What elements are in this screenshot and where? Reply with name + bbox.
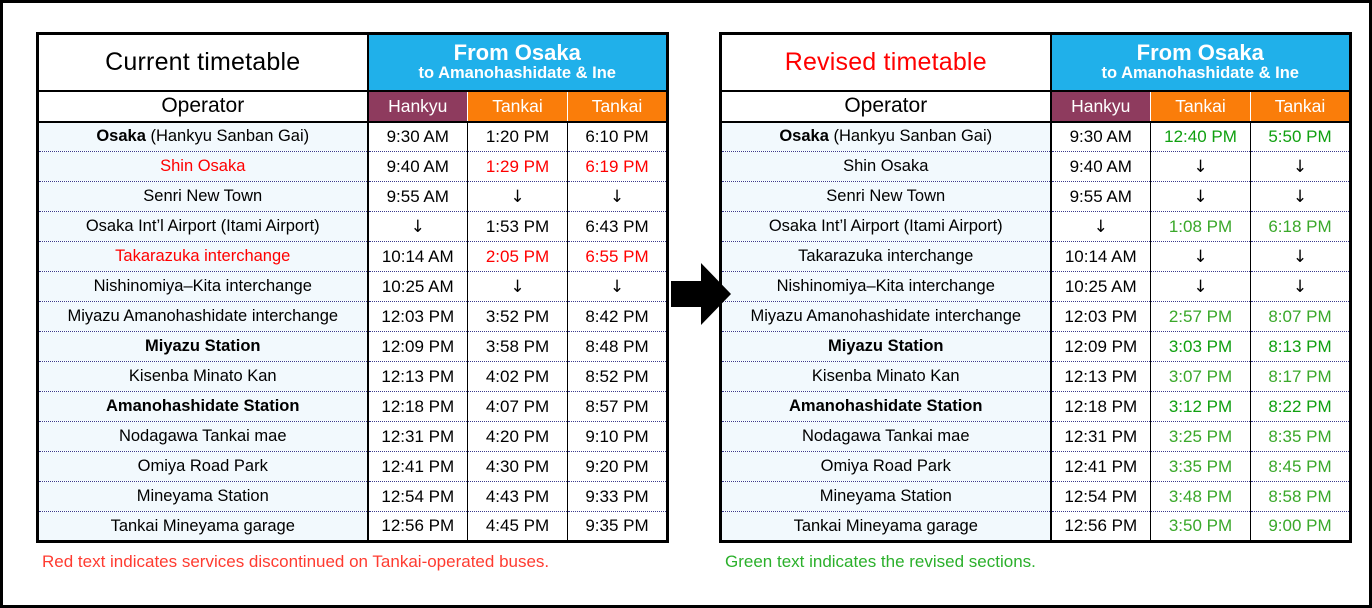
station-name: Osaka Int’l Airport (Itami Airport): [769, 217, 1003, 235]
departure-time-cell: 9:40 AM: [368, 152, 468, 182]
destination-line-2: to Amanohashidate & Ine: [1052, 65, 1350, 83]
revised-timetable-table: Revised timetableFrom Osakato Amanohashi…: [719, 32, 1352, 543]
table-row: Osaka Int’l Airport (Itami Airport)↓1:08…: [721, 212, 1351, 242]
table-row: Miyazu Amanohashidate interchange12:03 P…: [721, 302, 1351, 332]
station-name-cell: Kisenba Minato Kan: [38, 362, 368, 392]
station-name-cell: Miyazu Amanohashidate interchange: [721, 302, 1051, 332]
pass-through-arrow-icon: ↓: [368, 212, 468, 242]
down-arrow-icon: ↓: [610, 277, 624, 297]
destination-line-1: From Osaka: [369, 41, 667, 65]
departure-time-cell: 9:35 PM: [568, 512, 668, 542]
departure-time-cell: 1:53 PM: [468, 212, 568, 242]
station-name: Omiya Road Park: [821, 457, 951, 475]
station-name-cell: Nishinomiya–Kita interchange: [721, 272, 1051, 302]
station-name-cell: Senri New Town: [721, 182, 1051, 212]
departure-time-cell: 8:58 PM: [1251, 482, 1351, 512]
station-name-cell: Nodagawa Tankai mae: [721, 422, 1051, 452]
table-body: Revised timetableFrom Osakato Amanohashi…: [721, 34, 1351, 542]
down-arrow-icon: ↓: [1193, 187, 1207, 207]
departure-time-cell: 10:25 AM: [368, 272, 468, 302]
operator-label: Operator: [38, 91, 368, 122]
departure-time-cell: 8:57 PM: [568, 392, 668, 422]
departure-time-cell: 2:57 PM: [1151, 302, 1251, 332]
operator-column-header-3: Tankai: [568, 91, 668, 122]
table-row: Nodagawa Tankai mae12:31 PM3:25 PM8:35 P…: [721, 422, 1351, 452]
down-arrow-icon: ↓: [411, 217, 425, 237]
table-row: Shin Osaka9:40 AM1:29 PM6:19 PM: [38, 152, 668, 182]
departure-time-cell: 10:25 AM: [1051, 272, 1151, 302]
departure-time-cell: 12:31 PM: [1051, 422, 1151, 452]
pass-through-arrow-icon: ↓: [568, 272, 668, 302]
departure-time-cell: 8:13 PM: [1251, 332, 1351, 362]
operator-column-header-2: Tankai: [1151, 91, 1251, 122]
table-row: Osaka Int’l Airport (Itami Airport)↓1:53…: [38, 212, 668, 242]
departure-time-cell: 12:54 PM: [368, 482, 468, 512]
table-title: Revised timetable: [721, 34, 1051, 91]
departure-time-cell: 9:30 AM: [368, 122, 468, 152]
destination-line-2: to Amanohashidate & Ine: [369, 65, 667, 83]
station-name: Osaka Int’l Airport (Itami Airport): [86, 217, 320, 235]
down-arrow-icon: ↓: [510, 187, 524, 207]
legend-note: Red text indicates services discontinued…: [36, 552, 672, 572]
table-row: Amanohashidate Station12:18 PM3:12 PM8:2…: [721, 392, 1351, 422]
operator-row: OperatorHankyuTankaiTankai: [38, 91, 668, 122]
station-name: Mineyama Station: [820, 487, 952, 505]
pass-through-arrow-icon: ↓: [1051, 212, 1151, 242]
table-row: Omiya Road Park12:41 PM3:35 PM8:45 PM: [721, 452, 1351, 482]
station-name: Shin Osaka: [843, 157, 928, 175]
station-name-cell: Takarazuka interchange: [721, 242, 1051, 272]
destination-header: From Osakato Amanohashidate & Ine: [1051, 34, 1351, 91]
departure-time-cell: 9:20 PM: [568, 452, 668, 482]
departure-time-cell: 6:10 PM: [568, 122, 668, 152]
table-row: Mineyama Station12:54 PM4:43 PM9:33 PM: [38, 482, 668, 512]
departure-time-cell: 8:35 PM: [1251, 422, 1351, 452]
departure-time-cell: 9:55 AM: [1051, 182, 1151, 212]
station-name-cell: Shin Osaka: [38, 152, 368, 182]
departure-time-cell: 8:42 PM: [568, 302, 668, 332]
station-name-cell: Nishinomiya–Kita interchange: [38, 272, 368, 302]
station-name: Osaka: [96, 127, 146, 145]
destination-line-1: From Osaka: [1052, 41, 1350, 65]
station-name-cell: Osaka Int’l Airport (Itami Airport): [38, 212, 368, 242]
departure-time-cell: 1:08 PM: [1151, 212, 1251, 242]
departure-time-cell: 3:25 PM: [1151, 422, 1251, 452]
departure-time-cell: 3:48 PM: [1151, 482, 1251, 512]
station-name: Mineyama Station: [137, 487, 269, 505]
departure-time-cell: 1:29 PM: [468, 152, 568, 182]
departure-time-cell: 12:56 PM: [368, 512, 468, 542]
operator-row: OperatorHankyuTankaiTankai: [721, 91, 1351, 122]
table-row: Nodagawa Tankai mae12:31 PM4:20 PM9:10 P…: [38, 422, 668, 452]
departure-time-cell: 10:14 AM: [368, 242, 468, 272]
table-row: Kisenba Minato Kan12:13 PM3:07 PM8:17 PM: [721, 362, 1351, 392]
table-row: Senri New Town9:55 AM↓↓: [721, 182, 1351, 212]
departure-time-cell: 12:03 PM: [1051, 302, 1151, 332]
station-name-cell: Omiya Road Park: [721, 452, 1051, 482]
station-name-note: (Hankyu Sanban Gai): [146, 127, 309, 145]
station-name: Nodagawa Tankai mae: [802, 427, 970, 445]
station-name: Miyazu Amanohashidate interchange: [67, 307, 338, 325]
departure-time-cell: 8:45 PM: [1251, 452, 1351, 482]
station-name: Nishinomiya–Kita interchange: [777, 277, 995, 295]
station-name: Nodagawa Tankai mae: [119, 427, 287, 445]
departure-time-cell: 3:35 PM: [1151, 452, 1251, 482]
departure-time-cell: 9:55 AM: [368, 182, 468, 212]
pass-through-arrow-icon: ↓: [568, 182, 668, 212]
departure-time-cell: 8:52 PM: [568, 362, 668, 392]
departure-time-cell: 8:17 PM: [1251, 362, 1351, 392]
departure-time-cell: 9:10 PM: [568, 422, 668, 452]
station-name: Kisenba Minato Kan: [129, 367, 277, 385]
departure-time-cell: 12:18 PM: [1051, 392, 1151, 422]
station-name: Nishinomiya–Kita interchange: [94, 277, 312, 295]
table-row: Mineyama Station12:54 PM3:48 PM8:58 PM: [721, 482, 1351, 512]
departure-time-cell: 4:07 PM: [468, 392, 568, 422]
pass-through-arrow-icon: ↓: [1251, 242, 1351, 272]
station-name: Takarazuka interchange: [798, 247, 973, 265]
station-name-note: (Hankyu Sanban Gai): [829, 127, 992, 145]
operator-column-header-2: Tankai: [468, 91, 568, 122]
operator-label: Operator: [721, 91, 1051, 122]
station-name: Amanohashidate Station: [106, 397, 299, 415]
table-row: Osaka (Hankyu Sanban Gai)9:30 AM1:20 PM6…: [38, 122, 668, 152]
legend-note: Green text indicates the revised section…: [719, 552, 1355, 572]
departure-time-cell: 12:13 PM: [368, 362, 468, 392]
station-name-cell: Tankai Mineyama garage: [38, 512, 368, 542]
station-name: Senri New Town: [143, 187, 262, 205]
station-name: Miyazu Station: [145, 337, 261, 355]
station-name-cell: Mineyama Station: [38, 482, 368, 512]
down-arrow-icon: ↓: [610, 187, 624, 207]
departure-time-cell: 4:45 PM: [468, 512, 568, 542]
revised-timetable-panel: Revised timetableFrom Osakato Amanohashi…: [719, 3, 1355, 572]
station-name-cell: Senri New Town: [38, 182, 368, 212]
table-row: Nishinomiya–Kita interchange10:25 AM↓↓: [38, 272, 668, 302]
table-row: Tankai Mineyama garage12:56 PM3:50 PM9:0…: [721, 512, 1351, 542]
operator-column-header-1: Hankyu: [1051, 91, 1151, 122]
station-name-cell: Osaka (Hankyu Sanban Gai): [38, 122, 368, 152]
title-row: Revised timetableFrom Osakato Amanohashi…: [721, 34, 1351, 91]
down-arrow-icon: ↓: [1293, 157, 1307, 177]
departure-time-cell: 2:05 PM: [468, 242, 568, 272]
down-arrow-icon: ↓: [1293, 187, 1307, 207]
table-row: Kisenba Minato Kan12:13 PM4:02 PM8:52 PM: [38, 362, 668, 392]
departure-time-cell: 9:30 AM: [1051, 122, 1151, 152]
departure-time-cell: 3:12 PM: [1151, 392, 1251, 422]
pass-through-arrow-icon: ↓: [1151, 242, 1251, 272]
station-name-cell: Shin Osaka: [721, 152, 1051, 182]
departure-time-cell: 12:09 PM: [368, 332, 468, 362]
pass-through-arrow-icon: ↓: [1251, 272, 1351, 302]
down-arrow-icon: ↓: [510, 277, 524, 297]
departure-time-cell: 4:30 PM: [468, 452, 568, 482]
departure-time-cell: 12:18 PM: [368, 392, 468, 422]
station-name-cell: Nodagawa Tankai mae: [38, 422, 368, 452]
down-arrow-icon: ↓: [1094, 217, 1108, 237]
departure-time-cell: 12:56 PM: [1051, 512, 1151, 542]
departure-time-cell: 8:22 PM: [1251, 392, 1351, 422]
pass-through-arrow-icon: ↓: [468, 272, 568, 302]
departure-time-cell: 12:41 PM: [368, 452, 468, 482]
pass-through-arrow-icon: ↓: [468, 182, 568, 212]
station-name: Omiya Road Park: [138, 457, 268, 475]
station-name: Miyazu Amanohashidate interchange: [750, 307, 1021, 325]
down-arrow-icon: ↓: [1193, 247, 1207, 267]
departure-time-cell: 12:54 PM: [1051, 482, 1151, 512]
table-row: Shin Osaka9:40 AM↓↓: [721, 152, 1351, 182]
departure-time-cell: 8:48 PM: [568, 332, 668, 362]
down-arrow-icon: ↓: [1293, 277, 1307, 297]
table-row: Nishinomiya–Kita interchange10:25 AM↓↓: [721, 272, 1351, 302]
departure-time-cell: 12:09 PM: [1051, 332, 1151, 362]
station-name: Tankai Mineyama garage: [111, 517, 295, 535]
current-timetable-table: Current timetableFrom Osakato Amanohashi…: [36, 32, 669, 543]
station-name: Senri New Town: [826, 187, 945, 205]
down-arrow-icon: ↓: [1193, 277, 1207, 297]
departure-time-cell: 3:52 PM: [468, 302, 568, 332]
station-name-cell: Miyazu Station: [38, 332, 368, 362]
departure-time-cell: 6:55 PM: [568, 242, 668, 272]
departure-time-cell: 4:43 PM: [468, 482, 568, 512]
departure-time-cell: 3:03 PM: [1151, 332, 1251, 362]
departure-time-cell: 5:50 PM: [1251, 122, 1351, 152]
departure-time-cell: 12:31 PM: [368, 422, 468, 452]
departure-time-cell: 8:07 PM: [1251, 302, 1351, 332]
departure-time-cell: 4:20 PM: [468, 422, 568, 452]
current-timetable-panel: Current timetableFrom Osakato Amanohashi…: [36, 3, 672, 572]
departure-time-cell: 6:43 PM: [568, 212, 668, 242]
down-arrow-icon: ↓: [1193, 157, 1207, 177]
station-name-cell: Takarazuka interchange: [38, 242, 368, 272]
right-arrow-icon: [671, 263, 731, 325]
departure-time-cell: 12:03 PM: [368, 302, 468, 332]
table-title: Current timetable: [38, 34, 368, 91]
departure-time-cell: 9:40 AM: [1051, 152, 1151, 182]
table-row: Amanohashidate Station12:18 PM4:07 PM8:5…: [38, 392, 668, 422]
station-name-cell: Miyazu Amanohashidate interchange: [38, 302, 368, 332]
table-row: Takarazuka interchange10:14 AM↓↓: [721, 242, 1351, 272]
station-name: Shin Osaka: [160, 157, 245, 175]
table-row: Takarazuka interchange10:14 AM2:05 PM6:5…: [38, 242, 668, 272]
title-row: Current timetableFrom Osakato Amanohashi…: [38, 34, 668, 91]
departure-time-cell: 6:18 PM: [1251, 212, 1351, 242]
pass-through-arrow-icon: ↓: [1251, 152, 1351, 182]
station-name-cell: Osaka Int’l Airport (Itami Airport): [721, 212, 1051, 242]
destination-header: From Osakato Amanohashidate & Ine: [368, 34, 668, 91]
station-name-cell: Amanohashidate Station: [721, 392, 1051, 422]
station-name: Osaka: [779, 127, 829, 145]
table-row: Omiya Road Park12:41 PM4:30 PM9:20 PM: [38, 452, 668, 482]
table-row: Osaka (Hankyu Sanban Gai)9:30 AM12:40 PM…: [721, 122, 1351, 152]
departure-time-cell: 9:00 PM: [1251, 512, 1351, 542]
station-name-cell: Tankai Mineyama garage: [721, 512, 1051, 542]
down-arrow-icon: ↓: [1293, 247, 1307, 267]
departure-time-cell: 12:13 PM: [1051, 362, 1151, 392]
departure-time-cell: 3:58 PM: [468, 332, 568, 362]
table-row: Miyazu Amanohashidate interchange12:03 P…: [38, 302, 668, 332]
departure-time-cell: 12:40 PM: [1151, 122, 1251, 152]
timetable-comparison-page: Current timetableFrom Osakato Amanohashi…: [0, 0, 1372, 608]
table-body: Current timetableFrom Osakato Amanohashi…: [38, 34, 668, 542]
station-name: Amanohashidate Station: [789, 397, 982, 415]
station-name: Takarazuka interchange: [115, 247, 290, 265]
station-name-cell: Amanohashidate Station: [38, 392, 368, 422]
station-name: Kisenba Minato Kan: [812, 367, 960, 385]
departure-time-cell: 6:19 PM: [568, 152, 668, 182]
operator-column-header-1: Hankyu: [368, 91, 468, 122]
table-row: Senri New Town9:55 AM↓↓: [38, 182, 668, 212]
station-name: Tankai Mineyama garage: [794, 517, 978, 535]
table-row: Miyazu Station12:09 PM3:03 PM8:13 PM: [721, 332, 1351, 362]
departure-time-cell: 4:02 PM: [468, 362, 568, 392]
operator-column-header-3: Tankai: [1251, 91, 1351, 122]
departure-time-cell: 9:33 PM: [568, 482, 668, 512]
pass-through-arrow-icon: ↓: [1151, 152, 1251, 182]
departure-time-cell: 3:50 PM: [1151, 512, 1251, 542]
departure-time-cell: 12:41 PM: [1051, 452, 1151, 482]
station-name-cell: Mineyama Station: [721, 482, 1051, 512]
departure-time-cell: 10:14 AM: [1051, 242, 1151, 272]
station-name-cell: Omiya Road Park: [38, 452, 368, 482]
departure-time-cell: 1:20 PM: [468, 122, 568, 152]
departure-time-cell: 3:07 PM: [1151, 362, 1251, 392]
table-row: Tankai Mineyama garage12:56 PM4:45 PM9:3…: [38, 512, 668, 542]
pass-through-arrow-icon: ↓: [1151, 182, 1251, 212]
pass-through-arrow-icon: ↓: [1251, 182, 1351, 212]
station-name-cell: Kisenba Minato Kan: [721, 362, 1051, 392]
station-name-cell: Miyazu Station: [721, 332, 1051, 362]
table-row: Miyazu Station12:09 PM3:58 PM8:48 PM: [38, 332, 668, 362]
pass-through-arrow-icon: ↓: [1151, 272, 1251, 302]
station-name-cell: Osaka (Hankyu Sanban Gai): [721, 122, 1051, 152]
station-name: Miyazu Station: [828, 337, 944, 355]
